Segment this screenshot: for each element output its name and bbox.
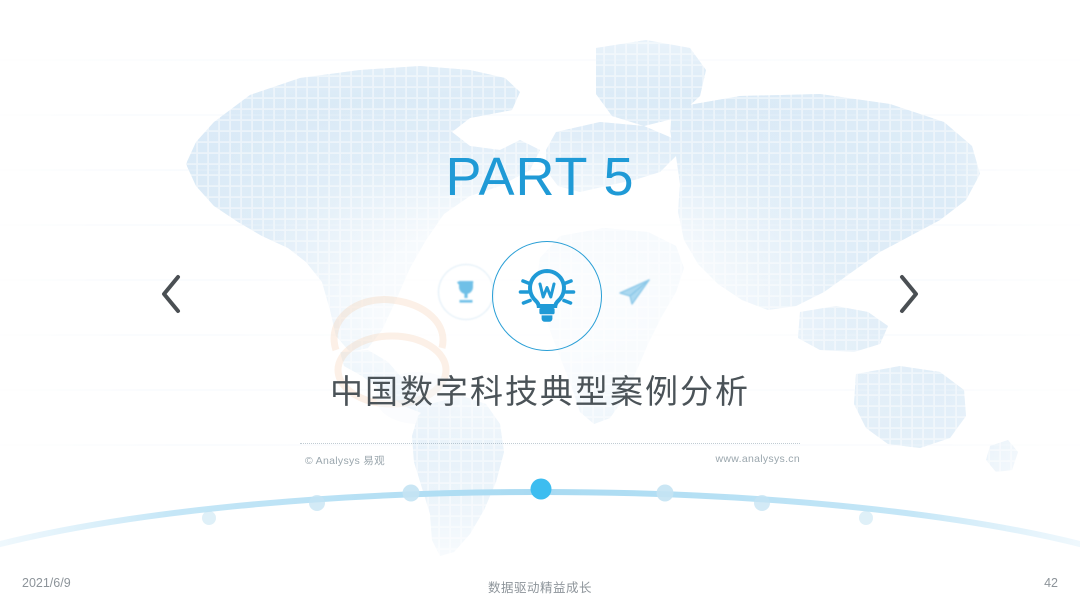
- chevron-left-icon[interactable]: [152, 268, 192, 320]
- trophy-icon: [438, 264, 494, 320]
- progress-dot[interactable]: [309, 495, 325, 511]
- progress-dot-group: [202, 479, 873, 526]
- section-icon-cluster: [430, 240, 670, 350]
- section-title: 中国数字科技典型案例分析: [0, 372, 1080, 412]
- progress-dot[interactable]: [754, 495, 770, 511]
- progress-dot[interactable]: [657, 485, 674, 502]
- presentation-slide: PART 5: [0, 0, 1080, 608]
- footer-page-number: 42: [1044, 576, 1058, 590]
- website-text: www.analysys.cn: [716, 453, 800, 465]
- lightbulb-icon: [492, 241, 602, 351]
- credits-divider: [300, 443, 800, 445]
- progress-dot[interactable]: [859, 511, 873, 525]
- slide-footer: 2021/6/9 数据驱动精益成长 42: [0, 564, 1080, 608]
- copyright-text: © Analysys 易观: [305, 453, 385, 468]
- progress-dot[interactable]: [202, 511, 216, 525]
- page-title: PART 5: [0, 150, 1080, 204]
- chevron-right-icon[interactable]: [888, 268, 928, 320]
- footer-slogan: 数据驱动精益成长: [0, 577, 1080, 596]
- progress-dot-active[interactable]: [531, 479, 552, 500]
- section-progress-arc: [0, 455, 1080, 560]
- progress-dot[interactable]: [403, 485, 420, 502]
- paper-plane-icon: [606, 264, 662, 320]
